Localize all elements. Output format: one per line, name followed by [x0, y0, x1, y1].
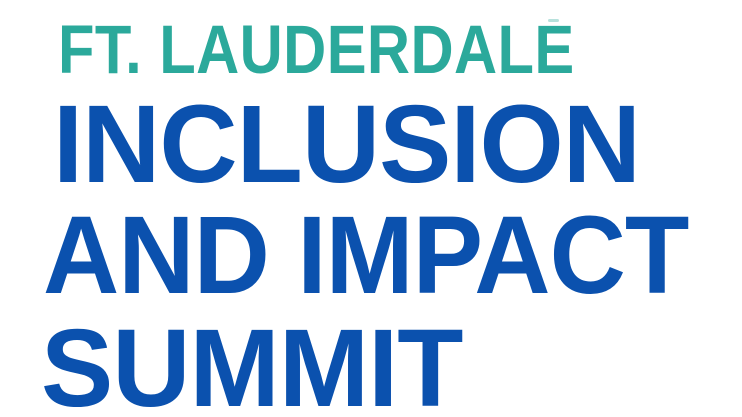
headline-line-summit: SUMMIT: [41, 314, 462, 417]
teal-speck-artifact: [548, 19, 559, 22]
headline-line-inclusion: INCLUSION: [53, 90, 640, 200]
headline-line-and-impact: AND IMPACT: [43, 201, 688, 311]
headline-block: INCLUSION AND IMPACT SUMMIT: [0, 0, 742, 417]
poster-canvas: FT. LAUDERDALE INCLUSION AND IMPACT SUMM…: [0, 0, 742, 417]
